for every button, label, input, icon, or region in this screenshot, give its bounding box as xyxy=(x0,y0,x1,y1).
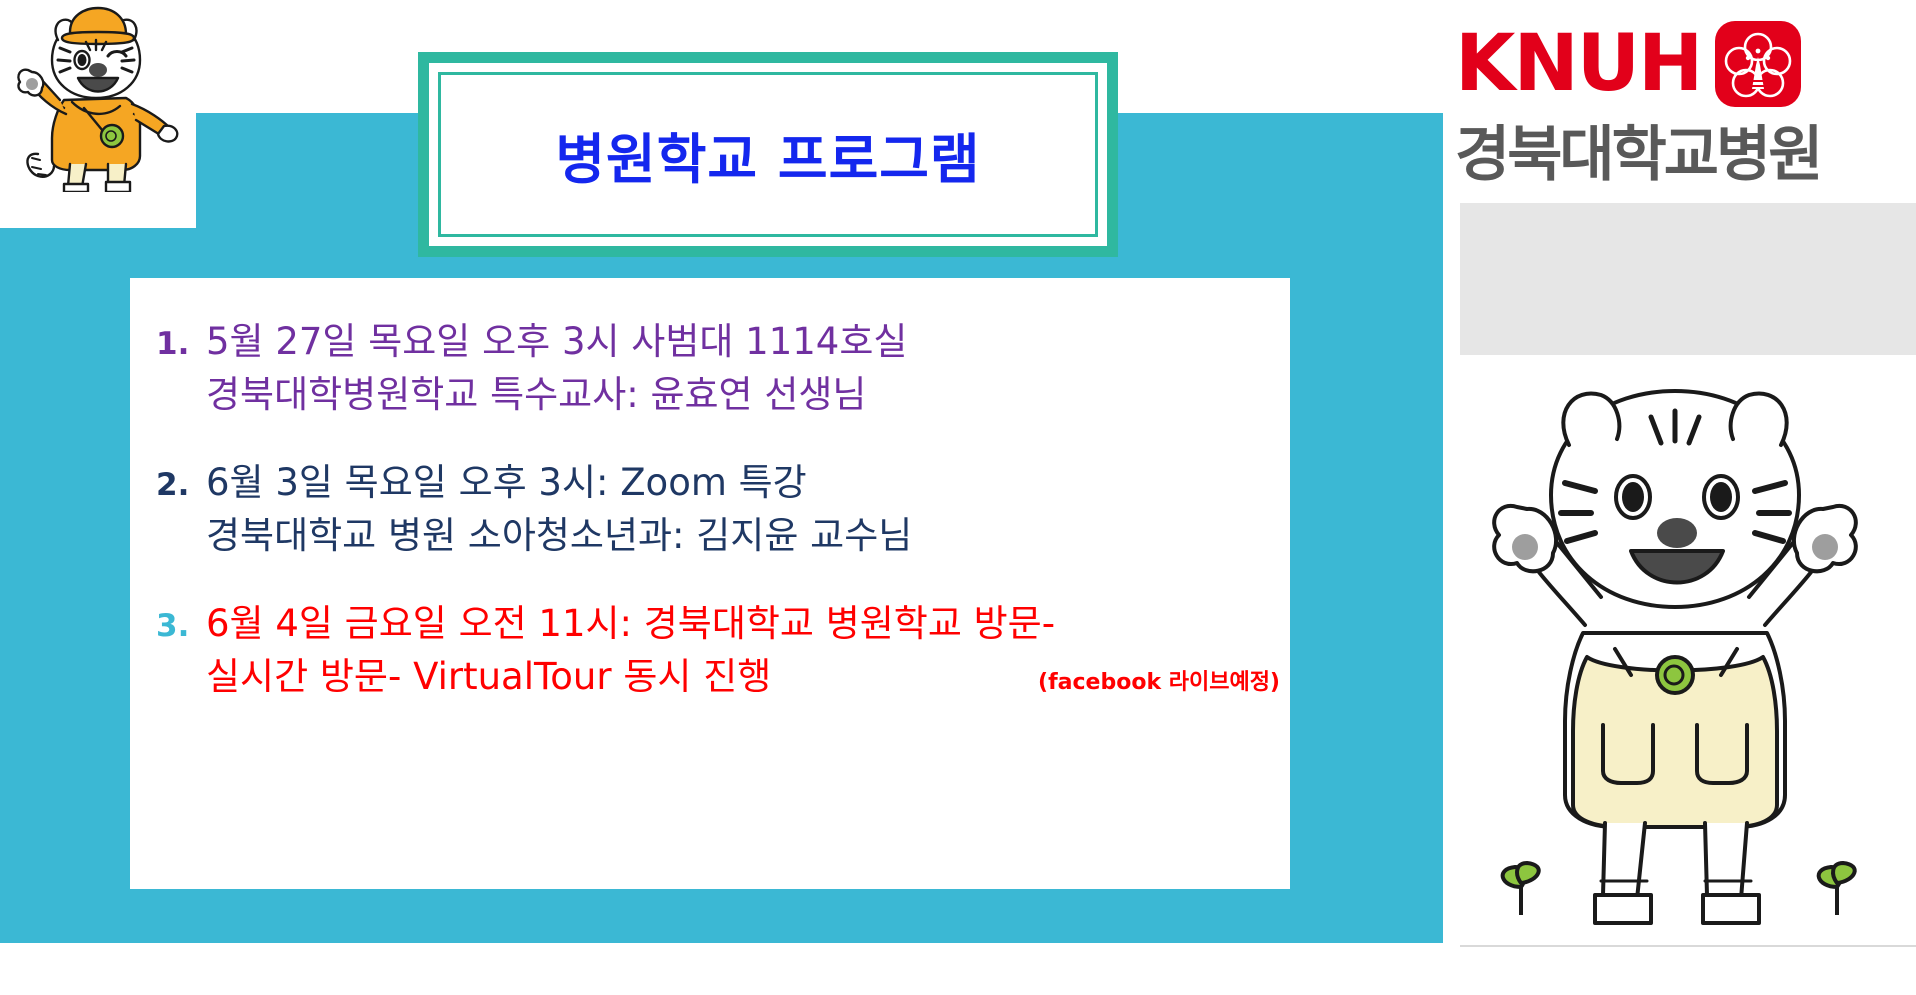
list-item-line: 경북대학병원학교 특수교사: 윤효연 선생님 xyxy=(206,369,1280,422)
bottom-divider xyxy=(1460,945,1916,947)
slide-canvas: 병원학교 프로그램 1. 5월 27일 목요일 오후 3시 사범대 1114호실… xyxy=(0,0,1916,995)
list-item-marker: 3. xyxy=(148,604,206,648)
list-item: 3. 6월 4일 금요일 오전 11시: 경북대학교 병원학교 방문- 실시간 … xyxy=(148,598,1280,703)
knuh-logo-row: KNUH xyxy=(1455,18,1905,110)
list-item-line: 6월 3일 목요일 오후 3시: Zoom 특강 xyxy=(206,457,1280,510)
list-item: 1. 5월 27일 목요일 오후 3시 사범대 1114호실 경북대학병원학교 … xyxy=(148,316,1280,421)
list-item-line: 실시간 방문- VirtualTour 동시 진행 xyxy=(206,651,1038,704)
list-item-line: 6월 4일 금요일 오전 11시: 경북대학교 병원학교 방문- xyxy=(206,598,1280,651)
list-item-marker: 1. xyxy=(148,322,206,366)
title-inner-border: 병원학교 프로그램 xyxy=(438,72,1098,237)
list-item-note: (facebook 라이브예정) xyxy=(1038,667,1280,698)
title-box: 병원학교 프로그램 xyxy=(418,52,1118,257)
program-content-card: 1. 5월 27일 목요일 오후 3시 사범대 1114호실 경북대학병원학교 … xyxy=(130,278,1290,889)
page-title: 병원학교 프로그램 xyxy=(555,115,980,194)
knuh-logo: KNUH 경북대학교병원 xyxy=(1455,18,1905,188)
knuh-flower-emblem-icon xyxy=(1715,21,1801,107)
list-item-line: 경북대학교 병원 소아청소년과: 김지윤 교수님 xyxy=(206,510,1280,563)
white-bottom-band xyxy=(0,943,1916,995)
gray-placeholder-panel xyxy=(1460,203,1916,355)
program-list: 1. 5월 27일 목요일 오후 3시 사범대 1114호실 경북대학병원학교 … xyxy=(148,316,1280,703)
list-item-marker: 2. xyxy=(148,463,206,507)
knuh-wordmark: KNUH xyxy=(1455,29,1701,99)
list-item: 2. 6월 3일 목요일 오후 3시: Zoom 특강 경북대학교 병원 소아청… xyxy=(148,457,1280,562)
list-item-line: 5월 27일 목요일 오후 3시 사범대 1114호실 xyxy=(206,316,1280,369)
knuh-korean-name: 경북대학교병원 xyxy=(1455,106,1905,193)
white-tiger-mascot-right-icon xyxy=(1465,375,1885,935)
white-tiger-mascot-left-icon xyxy=(8,4,184,192)
